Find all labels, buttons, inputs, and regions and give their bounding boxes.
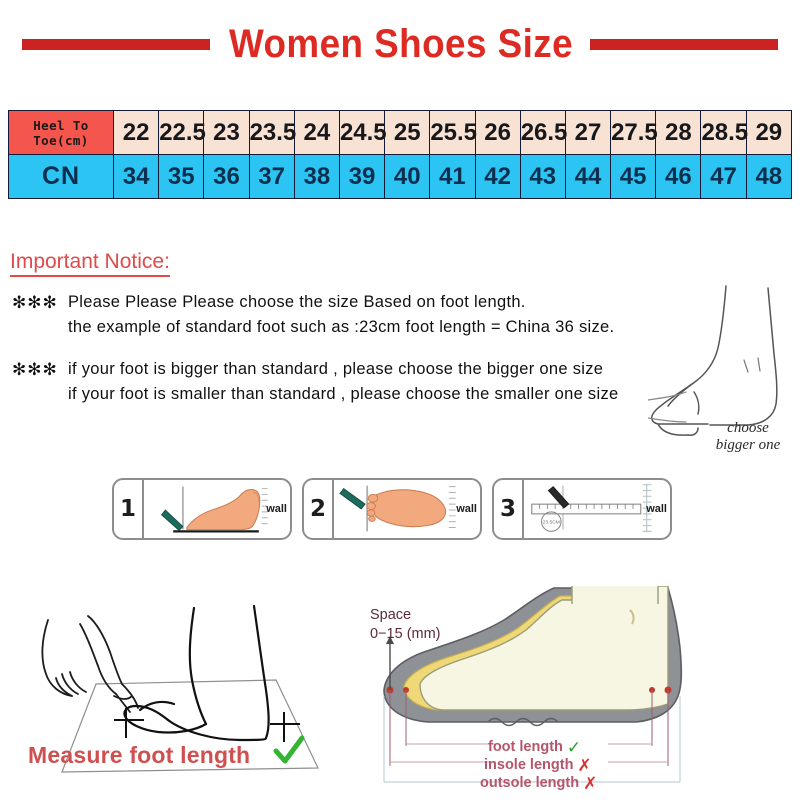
notice-line-2-text: the example of standard foot such as :23… (68, 315, 614, 340)
cell-cm: 28.5 (701, 111, 746, 155)
legend-label-insole-length: insole length (484, 756, 573, 774)
table-row-heel-to-toe: Heel To Toe(cm) 22 22.5 23 23.5 24 24.5 … (9, 111, 792, 155)
cell-cm: 25.5 (430, 111, 475, 155)
cell-cn: 40 (385, 155, 430, 199)
step-2-wall-label: wall (456, 503, 477, 515)
legend-item-outsole-length: outsole length ✗ (480, 774, 730, 792)
cell-cn: 42 (475, 155, 520, 199)
check-icon: ✓ (567, 739, 581, 756)
cell-cn: 48 (746, 155, 791, 199)
legend-item-insole-length: insole length ✗ (480, 756, 730, 774)
step-1-number: 1 (114, 480, 144, 538)
notice-heading: Important Notice: (10, 250, 170, 277)
title-bar-right (590, 39, 778, 50)
choose-caption-line-1: choose (688, 420, 800, 437)
cell-cn: 41 (430, 155, 475, 199)
space-label-line-2: 0−15 (mm) (370, 625, 441, 644)
cell-cn: 46 (656, 155, 701, 199)
cell-cn: 36 (204, 155, 249, 199)
notice-line-1: ✻✻✻ Please Please Please choose the size… (12, 290, 682, 315)
legend-item-foot-length: foot length ✓ (480, 738, 730, 756)
table-row-cn: CN 34 35 36 37 38 39 40 41 42 43 44 45 4… (9, 155, 792, 199)
cell-cm: 26.5 (520, 111, 565, 155)
notice-line-1-text: Please Please Please choose the size Bas… (68, 290, 526, 315)
cell-cm: 26 (475, 111, 520, 155)
choose-caption-line-2: bigger one (688, 437, 800, 454)
page-title: Women Shoes Size (229, 22, 573, 67)
cell-cn: 37 (249, 155, 294, 199)
cell-cm: 22.5 (159, 111, 204, 155)
step-3-number: 3 (494, 480, 524, 538)
notice-line-3: ✻✻✻ if your foot is bigger than standard… (12, 357, 682, 382)
cell-cm: 29 (746, 111, 791, 155)
step-3-illustration: 23.5CM wall (524, 480, 670, 538)
step-1-illustration: wall (144, 480, 290, 538)
cell-cn: 38 (294, 155, 339, 199)
cell-cn: 34 (114, 155, 159, 199)
cell-cn: 39 (339, 155, 384, 199)
cell-cm: 23.5 (249, 111, 294, 155)
notice-line-3-text: if your foot is bigger than standard , p… (68, 357, 603, 382)
measurement-steps: 1 wall 2 (112, 478, 672, 540)
step-1-wall-label: wall (266, 503, 287, 515)
step-1: 1 wall (112, 478, 292, 540)
choose-bigger-one-caption: choose bigger one (688, 420, 800, 454)
asterisk-icon: ✻✻✻ (12, 290, 68, 315)
space-label: Space 0−15 (mm) (370, 606, 441, 644)
cell-cm: 25 (385, 111, 430, 155)
row-label-heel-to-toe: Heel To Toe(cm) (9, 111, 114, 155)
cell-cm: 24 (294, 111, 339, 155)
cell-cn: 47 (701, 155, 746, 199)
notice-line-4: if your foot is smaller than standard , … (12, 382, 682, 407)
cell-cm: 27 (565, 111, 610, 155)
cell-cn: 43 (520, 155, 565, 199)
size-chart-page: Women Shoes Size Heel To Toe(cm) 22 22.5… (0, 0, 800, 800)
size-conversion-table: Heel To Toe(cm) 22 22.5 23 23.5 24 24.5 … (8, 110, 792, 199)
cell-cm: 23 (204, 111, 249, 155)
notice-block: ✻✻✻ Please Please Please choose the size… (12, 290, 682, 407)
page-title-row: Women Shoes Size (0, 18, 800, 70)
cross-icon: ✗ (583, 775, 597, 792)
notice-line-4-text: if your foot is smaller than standard , … (68, 382, 618, 407)
legend-label-foot-length: foot length (488, 738, 563, 756)
title-bar-left (22, 39, 210, 50)
cell-cn: 35 (159, 155, 204, 199)
shoe-legend: foot length ✓ insole length ✗ outsole le… (480, 738, 730, 792)
legend-label-outsole-length: outsole length (480, 774, 579, 792)
cell-cm: 27.5 (611, 111, 656, 155)
measure-foot-length-caption: Measure foot length (28, 742, 250, 769)
cell-cn: 44 (565, 155, 610, 199)
check-icon (272, 735, 306, 769)
space-label-line-1: Space (370, 606, 441, 625)
svg-text:23.5CM: 23.5CM (543, 520, 560, 526)
row-label-cn: CN (9, 155, 114, 199)
step-2-illustration: wall (334, 480, 480, 538)
cell-cm: 28 (656, 111, 701, 155)
step-2-number: 2 (304, 480, 334, 538)
cell-cm: 24.5 (339, 111, 384, 155)
cell-cm: 22 (114, 111, 159, 155)
foot-sketch-illustration (648, 272, 800, 444)
asterisk-icon: ✻✻✻ (12, 357, 68, 382)
notice-line-2: the example of standard foot such as :23… (12, 315, 682, 340)
step-2: 2 (302, 478, 482, 540)
step-3: 3 23.5CM (492, 478, 672, 540)
cross-icon: ✗ (577, 757, 591, 774)
step-3-wall-label: wall (646, 503, 667, 515)
cell-cn: 45 (611, 155, 656, 199)
